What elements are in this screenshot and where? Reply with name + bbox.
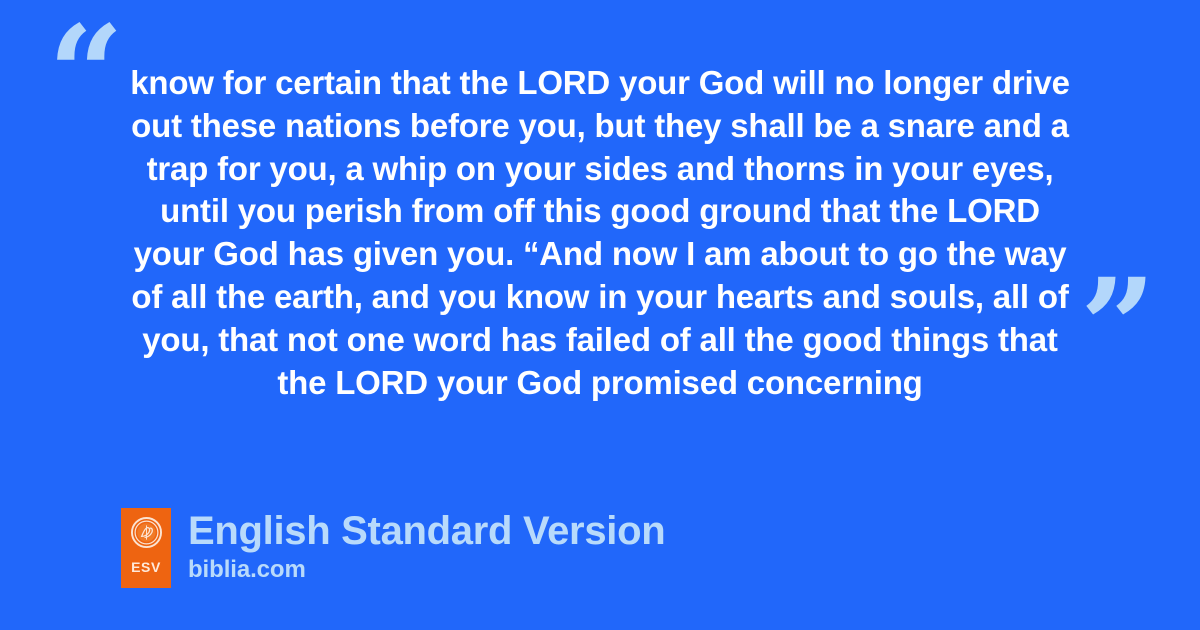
site-url[interactable]: biblia.com (188, 556, 665, 584)
verse-line: your God has given you. “And now I am ab… (60, 233, 1140, 276)
esv-logo-label: ESV (131, 560, 161, 574)
attribution: ESV English Standard Version biblia.com (121, 508, 665, 588)
verse-text-block: know for certain that the LORD your God … (60, 62, 1140, 404)
verse-line: until you perish from off this good grou… (60, 190, 1140, 233)
verse-line: trap for you, a whip on your sides and t… (60, 148, 1140, 191)
verse-line: the LORD your God promised concerning (60, 362, 1140, 405)
esv-seal-icon (131, 517, 162, 548)
verse-line: you, that not one word has failed of all… (60, 319, 1140, 362)
verse-line: of all the earth, and you know in your h… (60, 276, 1140, 319)
esv-logo: ESV (121, 508, 171, 588)
attribution-text: English Standard Version biblia.com (188, 508, 665, 584)
verse-line: know for certain that the LORD your God … (60, 62, 1140, 105)
verse-quote-card: “ know for certain that the LORD your Go… (0, 0, 1200, 630)
bible-version-name: English Standard Version (188, 509, 665, 554)
verse-line: out these nations before you, but they s… (60, 105, 1140, 148)
closing-quote-icon: ” (1080, 262, 1154, 394)
